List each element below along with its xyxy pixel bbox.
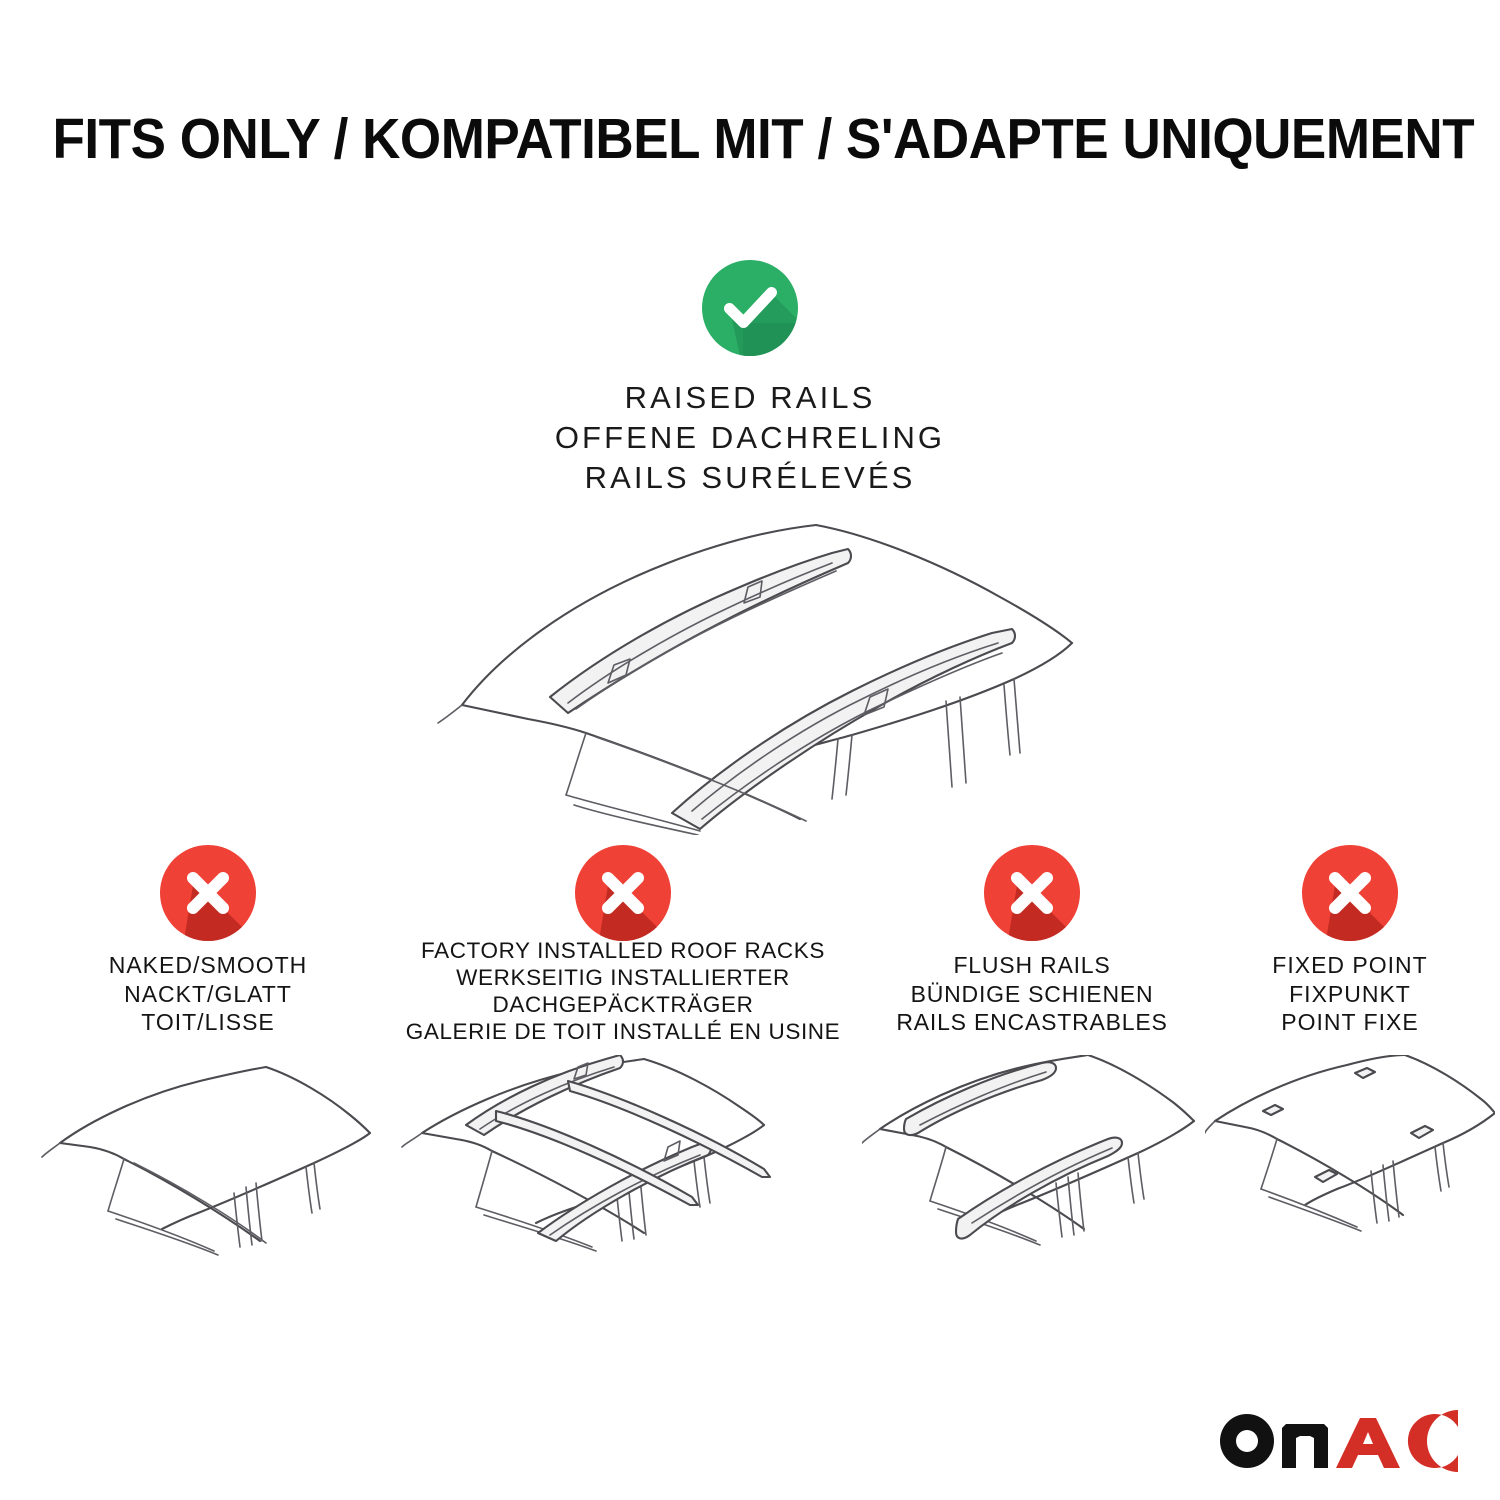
logo-letter-o [1220,1414,1274,1468]
compatible-label-en: RAISED RAILS [350,378,1150,418]
compatible-label-fr: RAILS SURÉLEVÉS [350,458,1150,498]
car-roof-flush-rails-illustration [862,1055,1202,1285]
cross-circle-icon [1302,845,1398,941]
label-flush-rails: FLUSH RAILS BÜNDIGE SCHIENEN RAILS ENCAS… [862,951,1202,1037]
logo-letter-a [1336,1418,1400,1468]
page-title: FITS ONLY / KOMPATIBEL MIT / S'ADAPTE UN… [53,106,1448,172]
logo-letter-c [1408,1410,1458,1472]
check-circle-icon [702,260,798,356]
label-line-de-1: WERKSEITIG INSTALLIERTER [392,964,854,991]
label-line-en: FLUSH RAILS [862,951,1202,980]
label-line-en: FACTORY INSTALLED ROOF RACKS [392,937,854,964]
label-factory-roof-racks: FACTORY INSTALLED ROOF RACKS WERKSEITIG … [392,937,854,1045]
cross-circle-icon [984,845,1080,941]
car-roof-with-raised-rails-illustration [400,505,1140,835]
label-line-de-2: DACHGEPÄCKTRÄGER [392,991,854,1018]
label-naked-smooth: NAKED/SMOOTH NACKT/GLATT TOIT/LISSE [38,951,378,1037]
cross-circle-icon [575,845,671,941]
label-line-fr: POINT FIXE [1205,1008,1495,1037]
compatible-label-de: OFFENE DACHRELING [350,418,1150,458]
car-roof-fixed-point-illustration [1205,1055,1495,1285]
car-roof-factory-installed-roof-racks-illustration [392,1055,854,1285]
logo-letter-m [1282,1424,1328,1468]
omac-logo [1212,1410,1464,1472]
label-line-fr: GALERIE DE TOIT INSTALLÉ EN USINE [392,1018,854,1045]
label-line-de: NACKT/GLATT [38,980,378,1009]
infographic-page: FITS ONLY / KOMPATIBEL MIT / S'ADAPTE UN… [0,0,1500,1500]
label-line-en: NAKED/SMOOTH [38,951,378,980]
compatible-label: RAISED RAILS OFFENE DACHRELING RAILS SUR… [350,378,1150,498]
car-roof-naked-smooth-illustration [38,1055,378,1285]
label-fixed-point: FIXED POINT FIXPUNKT POINT FIXE [1205,951,1495,1037]
label-line-fr: TOIT/LISSE [38,1008,378,1037]
label-line-fr: RAILS ENCASTRABLES [862,1008,1202,1037]
label-line-de: BÜNDIGE SCHIENEN [862,980,1202,1009]
cross-circle-icon [160,845,256,941]
label-line-en: FIXED POINT [1205,951,1495,980]
label-line-de: FIXPUNKT [1205,980,1495,1009]
